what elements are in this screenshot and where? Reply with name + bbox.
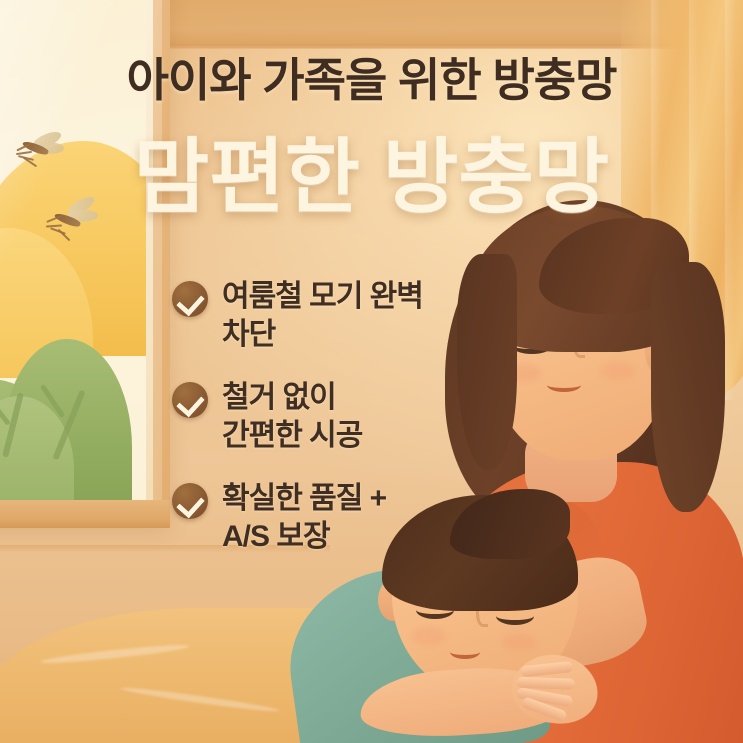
bullet-text: 확실한 품질 + A/S 보장 — [222, 480, 386, 557]
poster-canvas: 아이와 가족을 위한 방충망 맘편한 방충망 여룸철 모기 완벽 차단 철거 없… — [0, 0, 743, 743]
check-circle-icon — [172, 483, 208, 519]
child-finger — [520, 661, 573, 677]
feature-bullet-list: 여룸철 모기 완벽 차단 철거 없이 간편한 시공 확실한 품질 + A/S 보… — [172, 278, 502, 580]
list-item: 철거 없이 간편한 시공 — [172, 379, 502, 456]
bullet-text: 철거 없이 간편한 시공 — [222, 379, 362, 456]
child-mouth — [450, 645, 480, 659]
child-cheek-right — [502, 633, 536, 651]
poster-main-title: 맘편한 방충망 — [0, 110, 743, 229]
child-cheek-left — [412, 627, 446, 645]
bullet-line: 여룸철 모기 완벽 — [222, 278, 423, 316]
poster-subtitle: 아이와 가족을 위한 방충망 — [0, 44, 743, 110]
mother-cheek-right — [601, 362, 635, 380]
list-item: 확실한 품질 + A/S 보장 — [172, 480, 502, 557]
bullet-line: 확실한 품질 + — [222, 480, 386, 518]
bed-crease — [120, 685, 279, 714]
mother-mouth — [547, 378, 581, 392]
window-sill — [0, 500, 170, 528]
check-circle-icon — [172, 281, 208, 317]
check-circle-icon — [172, 382, 208, 418]
mosquito-leg — [58, 229, 71, 242]
list-item: 여룸철 모기 완벽 차단 — [172, 278, 502, 355]
bullet-line: A/S 보장 — [222, 518, 386, 556]
bullet-line: 간편한 시공 — [222, 417, 362, 455]
bullet-text: 여룸철 모기 완벽 차단 — [222, 278, 423, 355]
bed-crease — [40, 642, 190, 666]
bullet-line: 철거 없이 — [222, 379, 362, 417]
bullet-line: 차단 — [222, 316, 423, 354]
mother-hair-side-right — [651, 262, 725, 512]
